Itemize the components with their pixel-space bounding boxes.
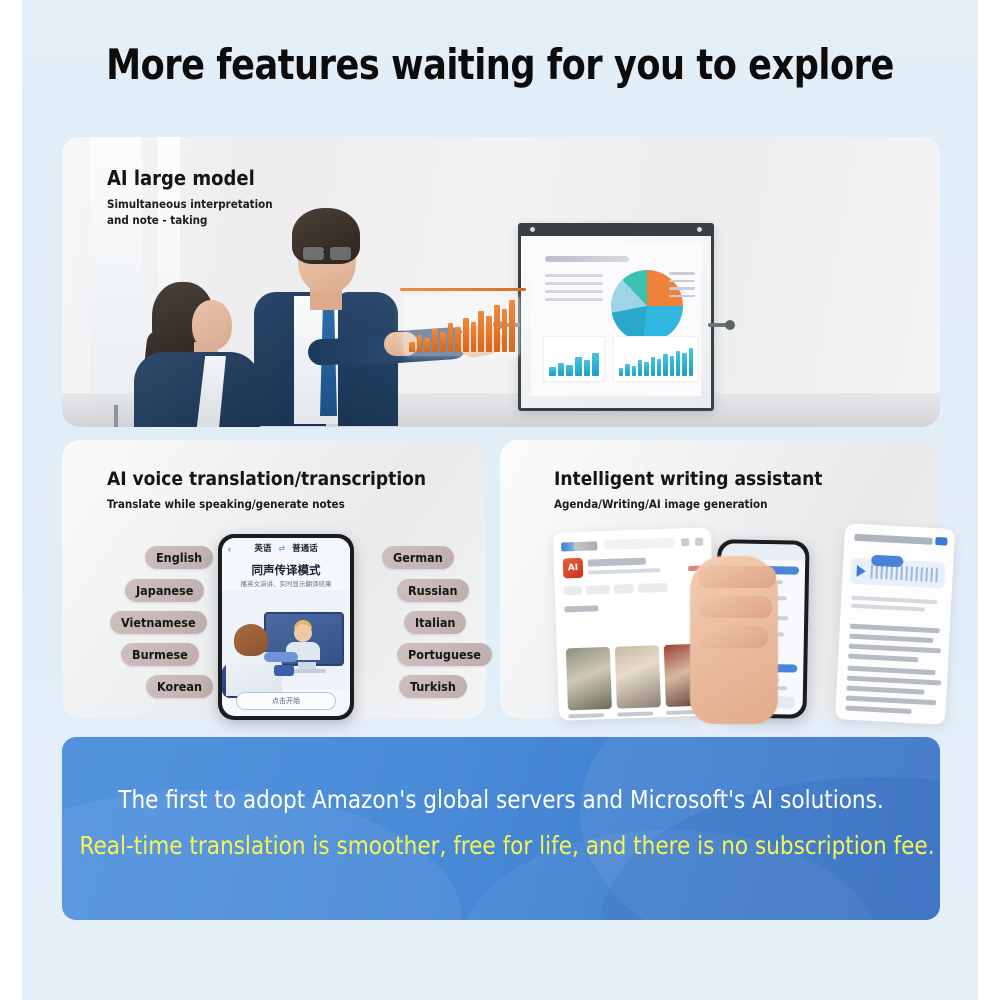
remote-speaker-face: [294, 624, 312, 642]
promo-page: More features waiting for you to explore: [22, 0, 978, 1000]
banner-line-1: The first to adopt Amazon's global serve…: [80, 785, 923, 814]
transcript-highlight: [871, 555, 904, 568]
language-pill-vietnamese[interactable]: Vietnamese: [110, 611, 207, 634]
translation-phone-mockup[interactable]: 英语 ⇄ 普通话 ‹ 同声传译模式 播英文演讲、实时显示翻译结果: [218, 534, 354, 720]
doc-line-10: [846, 696, 936, 706]
caption-bubble: [264, 652, 298, 662]
finger-1: [698, 566, 776, 588]
ai-notes-document[interactable]: [835, 523, 955, 724]
doc-badge-icon: [935, 537, 947, 546]
language-pill-japanese[interactable]: Japanese: [125, 579, 204, 602]
doc-line-7: [847, 666, 935, 676]
doc-line-6: [848, 654, 918, 663]
doc-line-9: [846, 686, 924, 695]
source-language-label: 英语: [254, 542, 271, 554]
app-item-title: [588, 558, 646, 567]
ai-badge-icon: AI: [563, 558, 584, 579]
doc-title: [854, 534, 932, 545]
language-pill-german[interactable]: German: [382, 546, 454, 569]
app-thumbnail-1[interactable]: [566, 647, 612, 710]
doc-line-8: [847, 676, 941, 686]
language-pill-russian[interactable]: Russian: [397, 579, 469, 602]
page-title: More features waiting for you to explore: [55, 40, 944, 89]
app-thumbnail-2[interactable]: [615, 645, 661, 708]
card-title-intelligent-writing: Intelligent writing assistant: [554, 468, 822, 490]
language-pill-korean[interactable]: Korean: [146, 675, 213, 698]
doc-line-3: [850, 624, 940, 634]
banner-line-2: Real-time translation is smoother, free …: [80, 831, 923, 860]
app-caption-1: [568, 713, 604, 718]
listener-head: [234, 624, 268, 656]
app-caption-2: [617, 711, 653, 716]
app-tag-1[interactable]: [564, 586, 582, 596]
doc-line-11: [845, 706, 911, 714]
doc-line-2: [851, 604, 925, 612]
search-input[interactable]: [603, 538, 675, 551]
share-icon[interactable]: [681, 538, 689, 546]
start-button[interactable]: 点击开始: [236, 692, 336, 710]
doc-line-4: [849, 634, 933, 643]
app-section-title: [564, 605, 598, 612]
app-tag-2[interactable]: [586, 585, 610, 595]
card-title-ai-large-model: AI large model: [107, 166, 255, 190]
language-switch-bar[interactable]: 英语 ⇄ 普通话: [222, 538, 350, 558]
promo-banner: The first to adopt Amazon's global serve…: [62, 737, 940, 920]
app-tag-4[interactable]: [638, 583, 668, 593]
back-icon[interactable]: ‹: [228, 544, 231, 554]
more-icon[interactable]: [695, 538, 703, 546]
card-title-ai-voice-translation: AI voice translation/transcription: [107, 468, 426, 490]
card-subtitle-intelligent-writing: Agenda/Writing/AI image generation: [554, 497, 768, 513]
phone-description: 播英文演讲、实时显示翻译结果: [222, 578, 350, 588]
phone-heading: 同声传译模式: [222, 562, 350, 578]
swap-icon[interactable]: ⇄: [278, 544, 285, 553]
app-top-bar: [561, 536, 703, 553]
card-subtitle-ai-voice-translation: Translate while speaking/generate notes: [107, 497, 345, 513]
language-pill-turkish[interactable]: Turkish: [399, 675, 467, 698]
finger-3: [698, 626, 768, 648]
phone-illustration: [222, 590, 350, 690]
floor: [62, 393, 940, 427]
app-logo: [561, 541, 597, 551]
language-pill-burmese[interactable]: Burmese: [121, 643, 199, 666]
doc-line-1: [851, 596, 937, 604]
language-pill-portuguese[interactable]: Portuguese: [397, 643, 492, 666]
phone-screen: 英语 ⇄ 普通话 ‹ 同声传译模式 播英文演讲、实时显示翻译结果: [222, 538, 350, 716]
doc-line-5: [849, 644, 941, 654]
language-pill-english[interactable]: English: [145, 546, 213, 569]
app-tag-3[interactable]: [614, 584, 634, 594]
language-pill-italian[interactable]: Italian: [404, 611, 466, 634]
handheld-phone-icon: [274, 665, 294, 676]
finger-2: [698, 596, 772, 618]
target-language-label: 普通话: [292, 542, 318, 554]
app-item-meta: [588, 568, 660, 575]
card-subtitle-ai-large-model: Simultaneous interpretation and note - t…: [107, 197, 273, 228]
play-icon[interactable]: [856, 565, 866, 577]
